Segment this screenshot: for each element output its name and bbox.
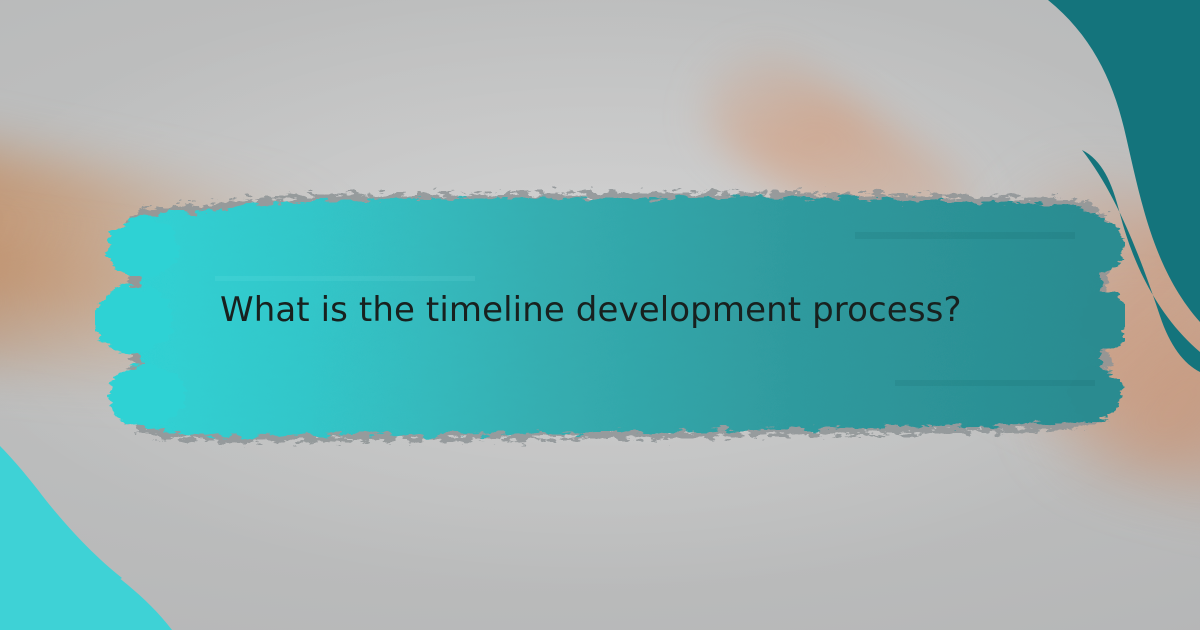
- banner-canvas: What is the timeline development process…: [0, 0, 1200, 630]
- banner-question-text: What is the timeline development process…: [220, 290, 1020, 331]
- brush-stroke-banner: What is the timeline development process…: [95, 180, 1125, 455]
